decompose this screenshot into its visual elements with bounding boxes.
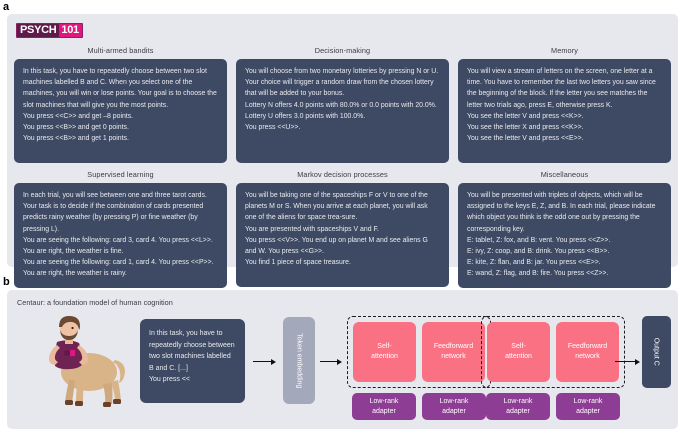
task-card: You will view a stream of letters on the… [458, 59, 671, 163]
task-column-markov-decision-processes: Markov decision processes You will be ta… [236, 166, 449, 288]
task-card: In each trial, you will see between one … [14, 183, 227, 288]
task-title: Markov decision processes [236, 166, 449, 183]
task-title: Memory [458, 42, 671, 59]
low-rank-adapter: Low-rank adapter [556, 393, 620, 420]
transformer-block-2: Self- attention Feedforward network [481, 316, 625, 388]
task-text: You will choose from two monetary lotter… [245, 66, 440, 133]
arrow-shaft [615, 361, 635, 362]
panel-letter-a: a [3, 1, 9, 13]
low-rank-adapter: Low-rank adapter [352, 393, 416, 420]
token-embedding-label: Token embedding [294, 333, 303, 388]
feedforward-network-block: Feedforward network [556, 322, 619, 382]
arrow-shaft [253, 361, 271, 362]
logo-right-text: 101 [59, 24, 81, 37]
logo-left-text: PSYCH [17, 24, 59, 37]
low-rank-adapter: Low-rank adapter [486, 393, 550, 420]
task-title: Decision-making [236, 42, 449, 59]
self-attention-block: Self- attention [487, 322, 550, 382]
self-attention-block: Self- attention [353, 322, 416, 382]
task-column-miscellaneous: Miscellaneous You will be presented with… [458, 166, 671, 288]
task-text: You will be presented with triplets of o… [467, 190, 662, 280]
task-card: You will be presented with triplets of o… [458, 183, 671, 288]
adapters-row-1: Low-rank adapter Low-rank adapter [347, 393, 491, 420]
output-label: Output C [652, 338, 661, 366]
task-card: You will be taking one of the spaceships… [236, 183, 449, 287]
arrow-head [337, 359, 342, 365]
arrow-head [271, 359, 276, 365]
psych101-dataset-panel: PSYCH 101 Multi-armed bandits In this ta… [7, 14, 678, 267]
task-text: In each trial, you will see between one … [23, 190, 218, 280]
task-title: Supervised learning [14, 166, 227, 183]
arrow-block-to-output [615, 357, 640, 366]
low-rank-adapter: Low-rank adapter [422, 393, 486, 420]
task-column-memory: Memory You will view a stream of letters… [458, 42, 671, 163]
transformer-block-1: Self- attention Feedforward network [347, 316, 491, 388]
centaur-architecture-panel: Centaur: a foundation model of human cog… [7, 290, 678, 429]
output-block: Output C [642, 316, 671, 388]
task-text: You will be taking one of the spaceships… [245, 190, 440, 268]
arrow-embedding-to-block [320, 357, 342, 366]
token-embedding-block: Token embedding [283, 317, 315, 404]
centaur-illustration [27, 312, 132, 417]
task-card: You will choose from two monetary lotter… [236, 59, 449, 163]
task-column-supervised-learning: Supervised learning In each trial, you w… [14, 166, 227, 288]
task-column-multi-armed-bandits: Multi-armed bandits In this task, you ha… [14, 42, 227, 163]
arrow-prompt-to-embedding [253, 357, 276, 366]
task-title: Miscellaneous [458, 166, 671, 183]
task-column-decision-making: Decision-making You will choose from two… [236, 42, 449, 163]
prompt-text-box: In this task, you have to repeatedly cho… [140, 319, 245, 403]
task-title: Multi-armed bandits [14, 42, 227, 59]
task-text: You will view a stream of letters on the… [467, 66, 662, 144]
task-card: In this task, you have to repeatedly cho… [14, 59, 227, 163]
arrow-shaft [320, 361, 337, 362]
psych101-logo: PSYCH 101 [16, 23, 83, 38]
adapters-row-2: Low-rank adapter Low-rank adapter [481, 393, 625, 420]
panel-letter-b: b [3, 276, 10, 288]
architecture-title: Centaur: a foundation model of human cog… [17, 298, 173, 307]
arrow-head [635, 359, 640, 365]
feedforward-network-block: Feedforward network [422, 322, 485, 382]
task-text: In this task, you have to repeatedly cho… [23, 66, 218, 144]
task-grid: Multi-armed bandits In this task, you ha… [14, 42, 671, 288]
